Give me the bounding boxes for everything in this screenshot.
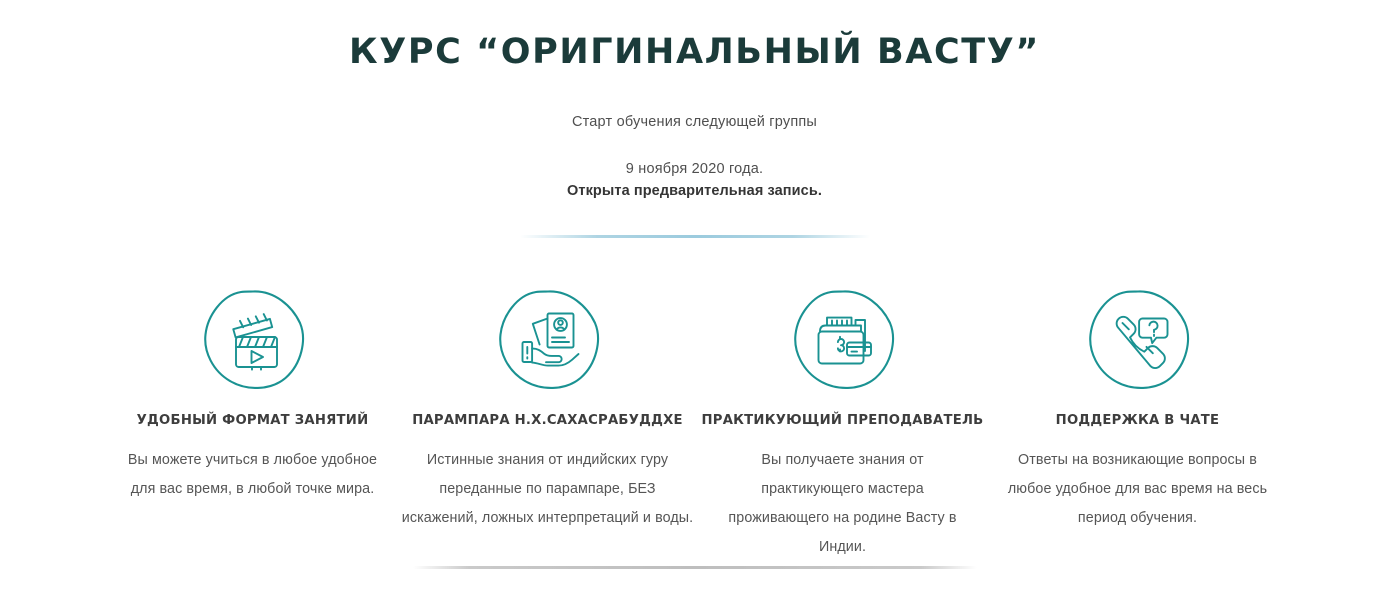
feature-title: ПАРАМПАРА Н.Х.САХАСРАБУДДХЕ bbox=[412, 412, 683, 429]
feature-item: ПРАКТИКУЮЩИЙ ПРЕПОДАВАТЕЛЬ Вы получаете … bbox=[695, 285, 990, 562]
intro-date-line: 9 ноября 2020 года. bbox=[0, 158, 1389, 180]
intro-start-line: Старт обучения следующей группы bbox=[0, 112, 1389, 132]
divider-top bbox=[520, 235, 870, 238]
features-grid: УДОБНЫЙ ФОРМАТ ЗАНЯТИЙ Вы можете учиться… bbox=[105, 285, 1285, 562]
feature-text: Ответы на возникающие вопросы в любое уд… bbox=[997, 446, 1279, 533]
feature-item: ПАРАМПАРА Н.Х.САХАСРАБУДДХЕ Истинные зна… bbox=[400, 285, 695, 533]
divider-bottom bbox=[413, 566, 977, 569]
clapperboard-play-icon bbox=[199, 285, 307, 393]
feature-item: ПОДДЕРЖКА В ЧАТЕ Ответы на возникающие в… bbox=[990, 285, 1285, 533]
page-title: КУРС “ОРИГИНАЛЬНЫЙ ВАСТУ” bbox=[0, 31, 1389, 73]
intro-spacer bbox=[0, 132, 1389, 158]
wallet-money-card-icon bbox=[789, 285, 897, 393]
course-landing-section: КУРС “ОРИГИНАЛЬНЫЙ ВАСТУ” Старт обучения… bbox=[0, 0, 1389, 597]
feature-title: ПРАКТИКУЮЩИЙ ПРЕПОДАВАТЕЛЬ bbox=[702, 412, 984, 429]
feature-text: Вы получаете знания от практикующего мас… bbox=[712, 446, 974, 562]
phone-question-bubble-icon bbox=[1084, 285, 1192, 393]
feature-title: УДОБНЫЙ ФОРМАТ ЗАНЯТИЙ bbox=[137, 412, 369, 429]
feature-text: Вы можете учиться в любое удобное для ва… bbox=[117, 446, 389, 504]
feature-item: УДОБНЫЙ ФОРМАТ ЗАНЯТИЙ Вы можете учиться… bbox=[105, 285, 400, 504]
feature-text: Истинные знания от индийских гуру переда… bbox=[402, 446, 694, 533]
intro-block: Старт обучения следующей группы 9 ноября… bbox=[0, 112, 1389, 202]
feature-title: ПОДДЕРЖКА В ЧАТЕ bbox=[1056, 412, 1220, 429]
hand-holding-certificate-icon bbox=[494, 285, 602, 393]
intro-preregistration-line: Открыта предварительная запись. bbox=[0, 180, 1389, 202]
